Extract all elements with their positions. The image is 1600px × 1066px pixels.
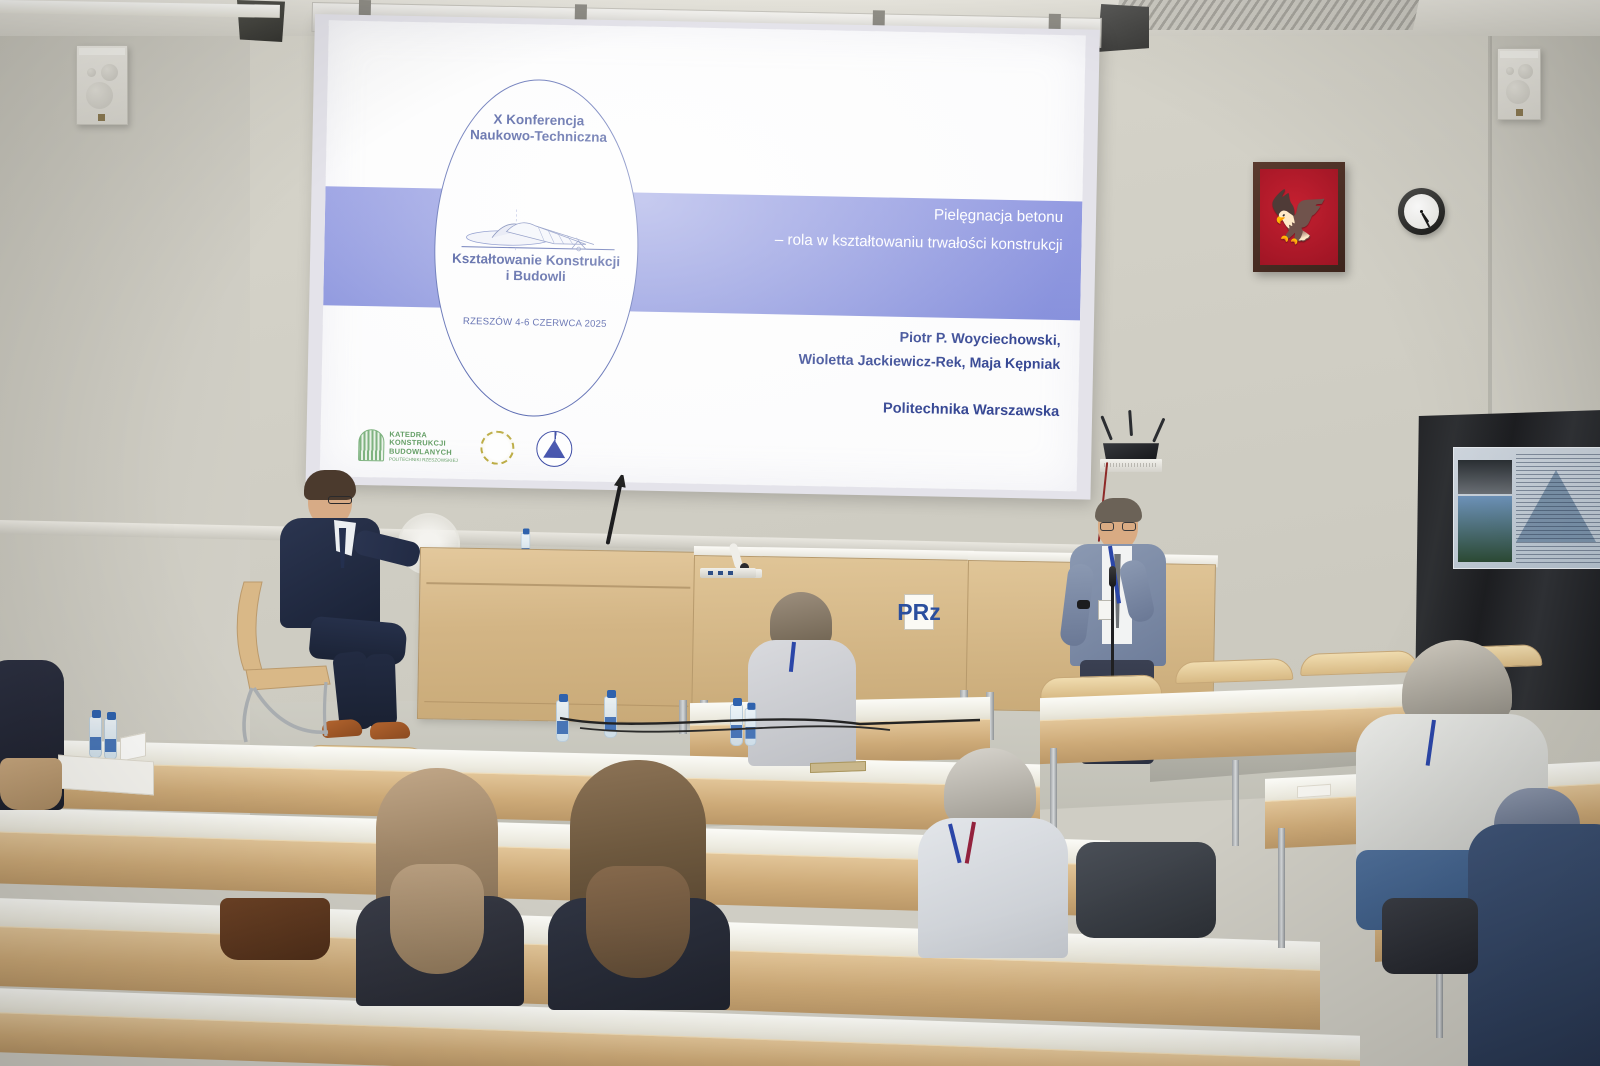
slide-sponsor-logos: KATEDRA KONSTRUKCJI BUDOWLANYCH POLITECH… — [358, 427, 573, 467]
wall-clock — [1398, 188, 1445, 235]
seat-back — [1175, 658, 1294, 684]
wooden-chair — [232, 574, 342, 744]
handbag-left — [0, 758, 62, 810]
attendee-grey-hair-center-right — [918, 748, 1068, 948]
attendee-long-hair-left — [362, 768, 512, 998]
slide-authors: Piotr P. Woyciechowski, Wioletta Jackiew… — [798, 324, 1061, 378]
jacket-on-desk — [1076, 842, 1216, 938]
projection-screen: X Konferencja Naukowo-Techniczna Kształt… — [306, 14, 1100, 500]
eagle-icon: 🦅 — [1268, 192, 1330, 242]
attendee-grey-jacket-center — [748, 592, 858, 772]
attendee-long-hair-center — [552, 760, 722, 1000]
authors-line-2: Wioletta Jackiewicz-Rek, Maja Kępniak — [798, 348, 1060, 377]
slide-affiliation: Politechnika Warszawska — [883, 401, 1060, 421]
badge-on-desk — [1297, 784, 1331, 798]
papers-on-desk — [58, 755, 154, 796]
booklet-on-desk — [810, 761, 866, 773]
logo-izba-inzynierow-seal-icon — [480, 431, 515, 466]
presenter-clicker — [1077, 600, 1090, 609]
attendee-left-edge — [0, 660, 76, 840]
ceiling-vent-grille — [1113, 0, 1419, 30]
prz-university-logo: PRz — [904, 594, 934, 630]
logo-pzitb-gear-icon — [536, 431, 573, 468]
control-keypad — [700, 568, 756, 578]
bottle-left-1 — [89, 716, 102, 758]
leather-bag-front — [220, 898, 330, 960]
lecture-hall-photo: 🦅 X Konferencja Naukowo-Techniczna — [0, 0, 1600, 1066]
shoe-right — [370, 721, 411, 739]
bench-post — [1278, 828, 1285, 948]
polish-eagle-emblem: 🦅 — [1253, 162, 1345, 272]
pyramid-poster — [1453, 447, 1600, 569]
bottle-left-2 — [104, 718, 117, 760]
presentation-slide: X Konferencja Naukowo-Techniczna Kształt… — [320, 20, 1086, 491]
katedra-line-4: POLITECHNIKI RZESZOWSKIEJ — [389, 456, 458, 463]
prz-logo-label: PRz — [897, 601, 940, 624]
conference-emblem: X Konferencja Naukowo-Techniczna Kształt… — [431, 77, 642, 418]
wall-speaker-left — [76, 45, 128, 125]
bench-post — [1232, 760, 1239, 846]
slide-title: Pielęgnacja betonu – rola w kształtowani… — [775, 198, 1064, 260]
logo-katedra-konstrukcji: KATEDRA KONSTRUKCJI BUDOWLANYCH POLITECH… — [358, 429, 459, 463]
affiliation-text: Politechnika Warszawska — [883, 401, 1060, 421]
slide-title-line-2: – rola w kształtowaniu trwałości konstru… — [775, 226, 1063, 260]
attendee-navy-right-edge — [1468, 788, 1600, 1066]
router-wall-bracket — [1100, 459, 1162, 472]
handheld-microphone — [1109, 566, 1116, 587]
backpack-right — [1382, 898, 1478, 974]
ceiling-speaker-mount-icon — [1097, 4, 1149, 52]
floor-cables — [560, 700, 980, 740]
building-mark-icon — [358, 429, 385, 462]
wall-speaker-right — [1497, 48, 1541, 120]
